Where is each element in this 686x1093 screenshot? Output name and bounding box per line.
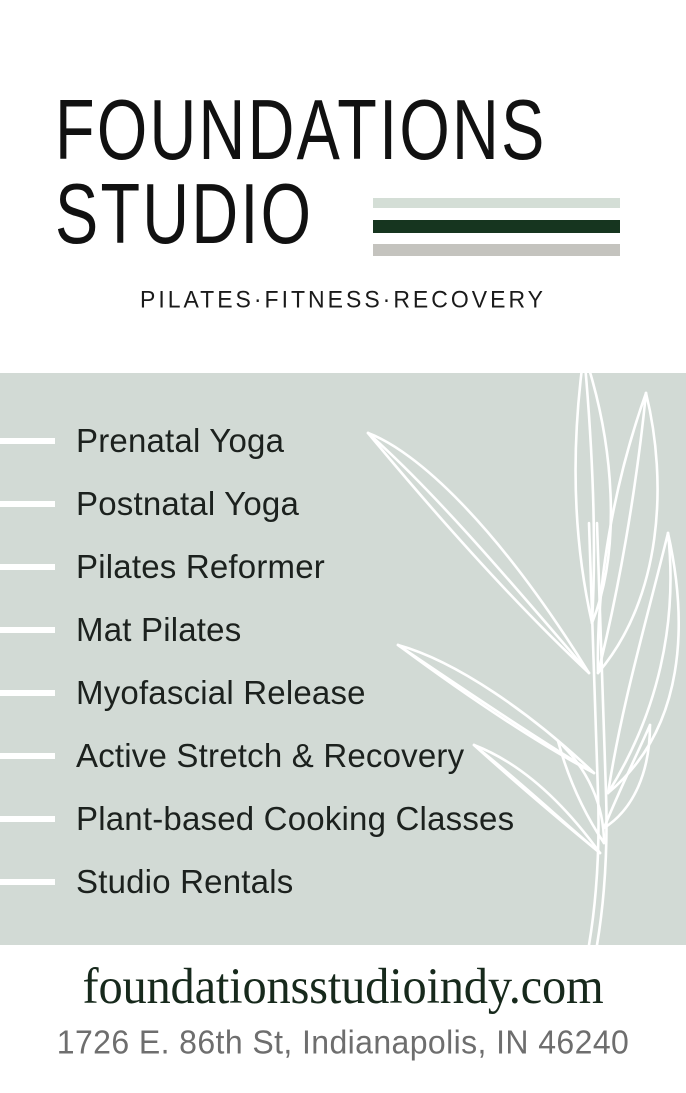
service-item-myofascial-release[interactable]: Myofascial Release (0, 661, 686, 724)
business-card: FOUNDATIONS STUDIO PILATES·FITNESS·RECOV… (0, 0, 686, 1093)
dash-marker-icon (0, 627, 55, 633)
service-item-mat-pilates[interactable]: Mat Pilates (0, 598, 686, 661)
service-label: Postnatal Yoga (76, 485, 299, 523)
services-panel: Prenatal Yoga Postnatal Yoga Pilates Ref… (0, 373, 686, 945)
service-item-prenatal-yoga[interactable]: Prenatal Yoga (0, 409, 686, 472)
services-list: Prenatal Yoga Postnatal Yoga Pilates Ref… (0, 373, 686, 945)
logo-header: FOUNDATIONS STUDIO PILATES·FITNESS·RECOV… (0, 0, 686, 373)
stripe-dark-green (373, 220, 620, 233)
service-label: Prenatal Yoga (76, 422, 284, 460)
brand-name-line-1: FOUNDATIONS (55, 88, 547, 173)
dash-marker-icon (0, 501, 55, 507)
logo-stripes-mark (373, 198, 620, 256)
service-label: Plant-based Cooking Classes (76, 800, 514, 838)
dash-marker-icon (0, 753, 55, 759)
service-label: Myofascial Release (76, 674, 366, 712)
service-label: Pilates Reformer (76, 548, 325, 586)
footer: foundationsstudioindy.com 1726 E. 86th S… (0, 945, 686, 1093)
dash-marker-icon (0, 564, 55, 570)
website-link[interactable]: foundationsstudioindy.com (17, 960, 669, 1015)
service-item-postnatal-yoga[interactable]: Postnatal Yoga (0, 472, 686, 535)
brand-name-line-2: STUDIO (55, 172, 313, 257)
service-label: Active Stretch & Recovery (76, 737, 464, 775)
dash-marker-icon (0, 816, 55, 822)
service-item-studio-rentals[interactable]: Studio Rentals (0, 850, 686, 913)
service-label: Studio Rentals (76, 863, 293, 901)
dash-marker-icon (0, 690, 55, 696)
service-item-active-stretch-recovery[interactable]: Active Stretch & Recovery (0, 724, 686, 787)
dash-marker-icon (0, 879, 55, 885)
service-item-plant-based-cooking-classes[interactable]: Plant-based Cooking Classes (0, 787, 686, 850)
service-item-pilates-reformer[interactable]: Pilates Reformer (0, 535, 686, 598)
service-label: Mat Pilates (76, 611, 241, 649)
stripe-light-gray (373, 244, 620, 256)
stripe-light-sage (373, 198, 620, 208)
dash-marker-icon (0, 438, 55, 444)
brand-tagline: PILATES·FITNESS·RECOVERY (0, 285, 686, 314)
street-address: 1726 E. 86th St, Indianapolis, IN 46240 (0, 1022, 686, 1062)
